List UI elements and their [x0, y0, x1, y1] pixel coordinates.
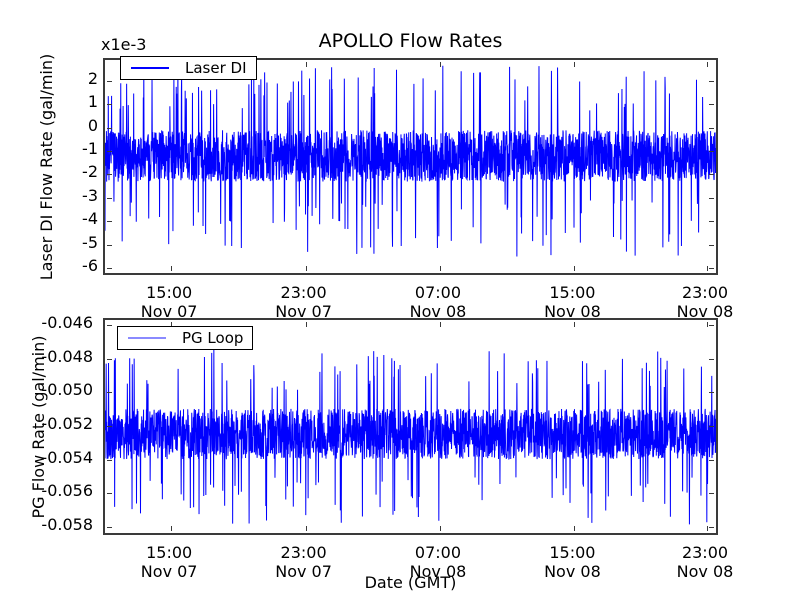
- chart-title: APOLLO Flow Rates: [103, 30, 718, 52]
- y-tick-mark: [709, 527, 714, 528]
- x-tick-mark: [574, 322, 575, 327]
- y-tick-mark: [107, 128, 112, 129]
- y-tick-mark: [709, 426, 714, 427]
- y-tick-mark: [709, 325, 714, 326]
- legend-pg-loop[interactable]: PG Loop: [117, 326, 253, 350]
- y-tick-label: -6: [82, 258, 98, 274]
- y-tick-label: 1: [88, 94, 98, 110]
- y-tick-mark: [107, 426, 112, 427]
- y-tick-label: -3: [82, 188, 98, 204]
- x-tick-label: 15:00Nov 07: [141, 283, 198, 321]
- x-tick-mark: [440, 62, 441, 67]
- x-tick-mark: [707, 322, 708, 327]
- y-axis-label-pg-loop: PG Flow Rate (gal/min): [30, 317, 48, 537]
- y-tick-mark: [709, 174, 714, 175]
- x-tick-mark: [171, 526, 172, 531]
- legend-label-laser-di: Laser DI: [173, 60, 249, 76]
- x-tick-time: 07:00: [410, 543, 467, 562]
- y-tick-mark: [709, 128, 714, 129]
- y-tick-label: -2: [82, 164, 98, 180]
- y-tick-mark: [107, 460, 112, 461]
- x-tick-mark: [306, 62, 307, 67]
- legend-line-icon: [127, 61, 173, 75]
- y-tick-mark: [107, 198, 112, 199]
- x-axis-label: Date (GMT): [103, 573, 718, 592]
- y-tick-mark: [107, 493, 112, 494]
- x-tick-mark: [707, 526, 708, 531]
- pg-loop-trace: [105, 320, 716, 533]
- laser-di-trace: [105, 60, 716, 273]
- y-tick-mark: [709, 460, 714, 461]
- figure-canvas: x1e-3 APOLLO Flow Rates Laser DI 210-1-2…: [0, 0, 800, 600]
- y-tick-label: -5: [82, 235, 98, 251]
- plot-area-laser-di: [105, 60, 716, 273]
- y-tick-mark: [107, 359, 112, 360]
- x-tick-label: 15:00Nov 08: [544, 283, 601, 321]
- y-tick-mark: [709, 151, 714, 152]
- y-tick-mark: [709, 392, 714, 393]
- y-axis-label-laser-di: Laser DI Flow Rate (gal/min): [38, 37, 56, 297]
- y-tick-mark: [709, 104, 714, 105]
- x-tick-time: 15:00: [544, 543, 601, 562]
- y-tick-mark: [107, 392, 112, 393]
- y-tick-mark: [107, 81, 112, 82]
- y-tick-mark: [107, 104, 112, 105]
- y-tick-label: 2: [88, 71, 98, 87]
- x-tick-label: 07:00Nov 08: [410, 283, 467, 321]
- y-tick-mark: [107, 221, 112, 222]
- y-tick-label: 0: [88, 118, 98, 134]
- legend-laser-di[interactable]: Laser DI: [120, 56, 257, 80]
- x-tick-time: 07:00: [410, 283, 467, 302]
- axes-pg-loop: PG Loop: [103, 318, 718, 535]
- y-tick-mark: [107, 527, 112, 528]
- x-tick-mark: [574, 62, 575, 67]
- y-tick-mark: [709, 359, 714, 360]
- x-tick-time: 23:00: [677, 283, 734, 302]
- y-tick-mark: [709, 268, 714, 269]
- x-tick-mark: [306, 322, 307, 327]
- axes-laser-di: Laser DI: [103, 58, 718, 275]
- x-tick-mark: [440, 322, 441, 327]
- x-tick-time: 23:00: [677, 543, 734, 562]
- legend-label-pg-loop: PG Loop: [170, 330, 245, 346]
- x-tick-time: 15:00: [141, 283, 198, 302]
- x-tick-mark: [707, 62, 708, 67]
- y-tick-label: -1: [82, 141, 98, 157]
- x-tick-mark: [440, 526, 441, 531]
- y-tick-label: -4: [82, 211, 98, 227]
- x-tick-mark: [574, 266, 575, 271]
- x-tick-time: 15:00: [141, 543, 198, 562]
- x-tick-mark: [306, 526, 307, 531]
- x-ticks-laser-di: 15:00Nov 0723:00Nov 0707:00Nov 0815:00No…: [103, 279, 718, 319]
- x-tick-mark: [171, 266, 172, 271]
- y-tick-mark: [709, 221, 714, 222]
- y-tick-mark: [107, 174, 112, 175]
- y-tick-mark: [107, 325, 112, 326]
- x-tick-label: 23:00Nov 08: [677, 283, 734, 321]
- y-tick-mark: [107, 245, 112, 246]
- x-tick-mark: [440, 266, 441, 271]
- x-tick-time: 15:00: [544, 283, 601, 302]
- x-tick-mark: [574, 526, 575, 531]
- y-tick-mark: [107, 151, 112, 152]
- legend-line-icon: [124, 331, 170, 345]
- x-tick-time: 23:00: [275, 283, 332, 302]
- y-tick-mark: [709, 245, 714, 246]
- x-tick-mark: [707, 266, 708, 271]
- x-tick-mark: [306, 266, 307, 271]
- x-tick-time: 23:00: [275, 543, 332, 562]
- y-tick-mark: [709, 81, 714, 82]
- y-tick-mark: [709, 493, 714, 494]
- y-tick-mark: [709, 198, 714, 199]
- plot-area-pg-loop: [105, 320, 716, 533]
- x-tick-label: 23:00Nov 07: [275, 283, 332, 321]
- y-tick-mark: [107, 268, 112, 269]
